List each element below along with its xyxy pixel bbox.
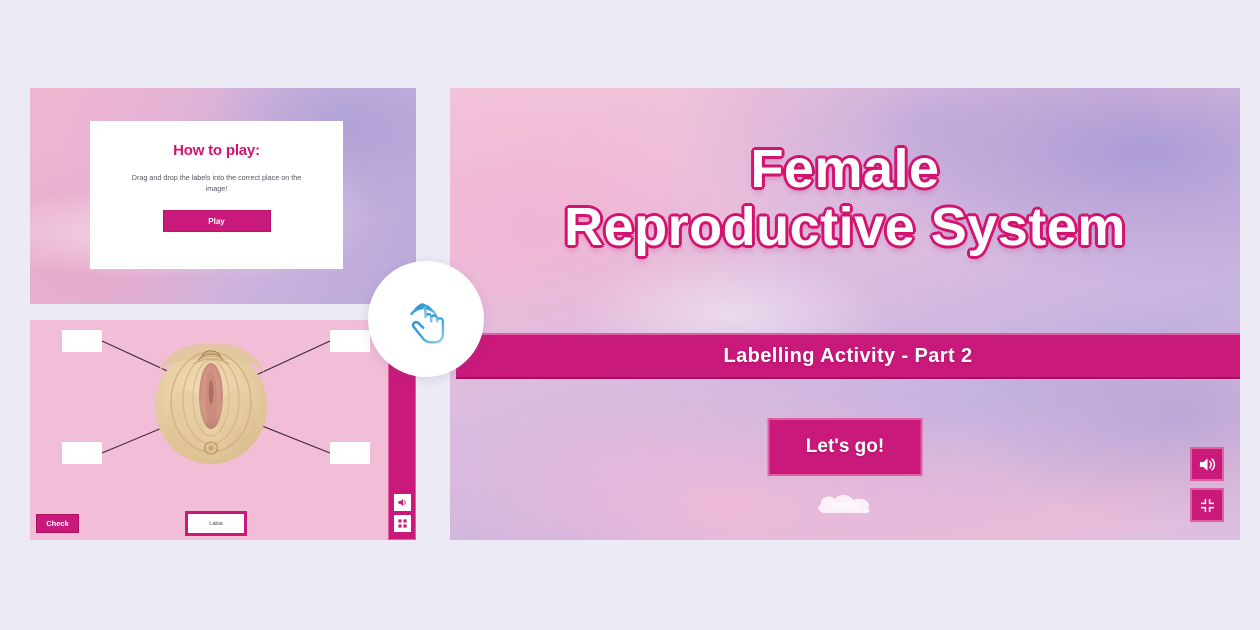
label-slot-top-left[interactable] xyxy=(62,330,102,352)
how-to-play-card: How to play: Drag and drop the labels in… xyxy=(90,121,343,269)
labelling-activity-panel: Check Labia xyxy=(30,320,416,540)
twinkl-logo: twinkl xyxy=(814,493,876,517)
anatomy-illustration xyxy=(143,334,279,472)
grid-icon[interactable] xyxy=(394,515,411,532)
fullscreen-exit-glyph xyxy=(1198,496,1217,515)
fullscreen-exit-icon[interactable] xyxy=(1190,488,1224,522)
draggable-label-chip[interactable]: Labia xyxy=(185,511,247,536)
label-slot-bottom-right[interactable] xyxy=(330,442,370,464)
slide-preview-stage: How to play: Drag and drop the labels in… xyxy=(0,0,1260,630)
page-title: Female Reproductive System xyxy=(450,140,1240,257)
volume-glyph xyxy=(1198,455,1217,474)
left-column: How to play: Drag and drop the labels in… xyxy=(30,88,416,540)
speaker-glyph xyxy=(397,497,408,508)
how-to-play-panel: How to play: Drag and drop the labels in… xyxy=(30,88,416,304)
check-button[interactable]: Check xyxy=(36,514,79,533)
grid-glyph xyxy=(397,518,408,529)
label-slot-top-right[interactable] xyxy=(330,330,370,352)
title-slide-panel: Female Reproductive System Labelling Act… xyxy=(450,88,1240,540)
speaker-icon[interactable] xyxy=(394,494,411,511)
volume-icon[interactable] xyxy=(1190,447,1224,481)
how-to-play-instructions: Drag and drop the labels into the correc… xyxy=(127,172,307,194)
title-line-1: Female xyxy=(450,140,1240,198)
brand-name: twinkl xyxy=(832,500,859,510)
how-to-play-title: How to play: xyxy=(173,142,260,159)
tap-hand-badge xyxy=(368,261,484,377)
player-controls xyxy=(1190,447,1224,522)
lets-go-button[interactable]: Let's go! xyxy=(768,418,923,476)
tap-hand-icon xyxy=(394,287,458,351)
label-slot-bottom-left[interactable] xyxy=(62,442,102,464)
activity-side-rail xyxy=(388,360,416,540)
subtitle-text: Labelling Activity - Part 2 xyxy=(723,345,972,368)
title-line-2: Reproductive System xyxy=(450,198,1240,256)
subtitle-banner: Labelling Activity - Part 2 xyxy=(456,333,1240,379)
draggable-label-text: Labia xyxy=(188,514,244,533)
play-button[interactable]: Play xyxy=(163,210,271,232)
